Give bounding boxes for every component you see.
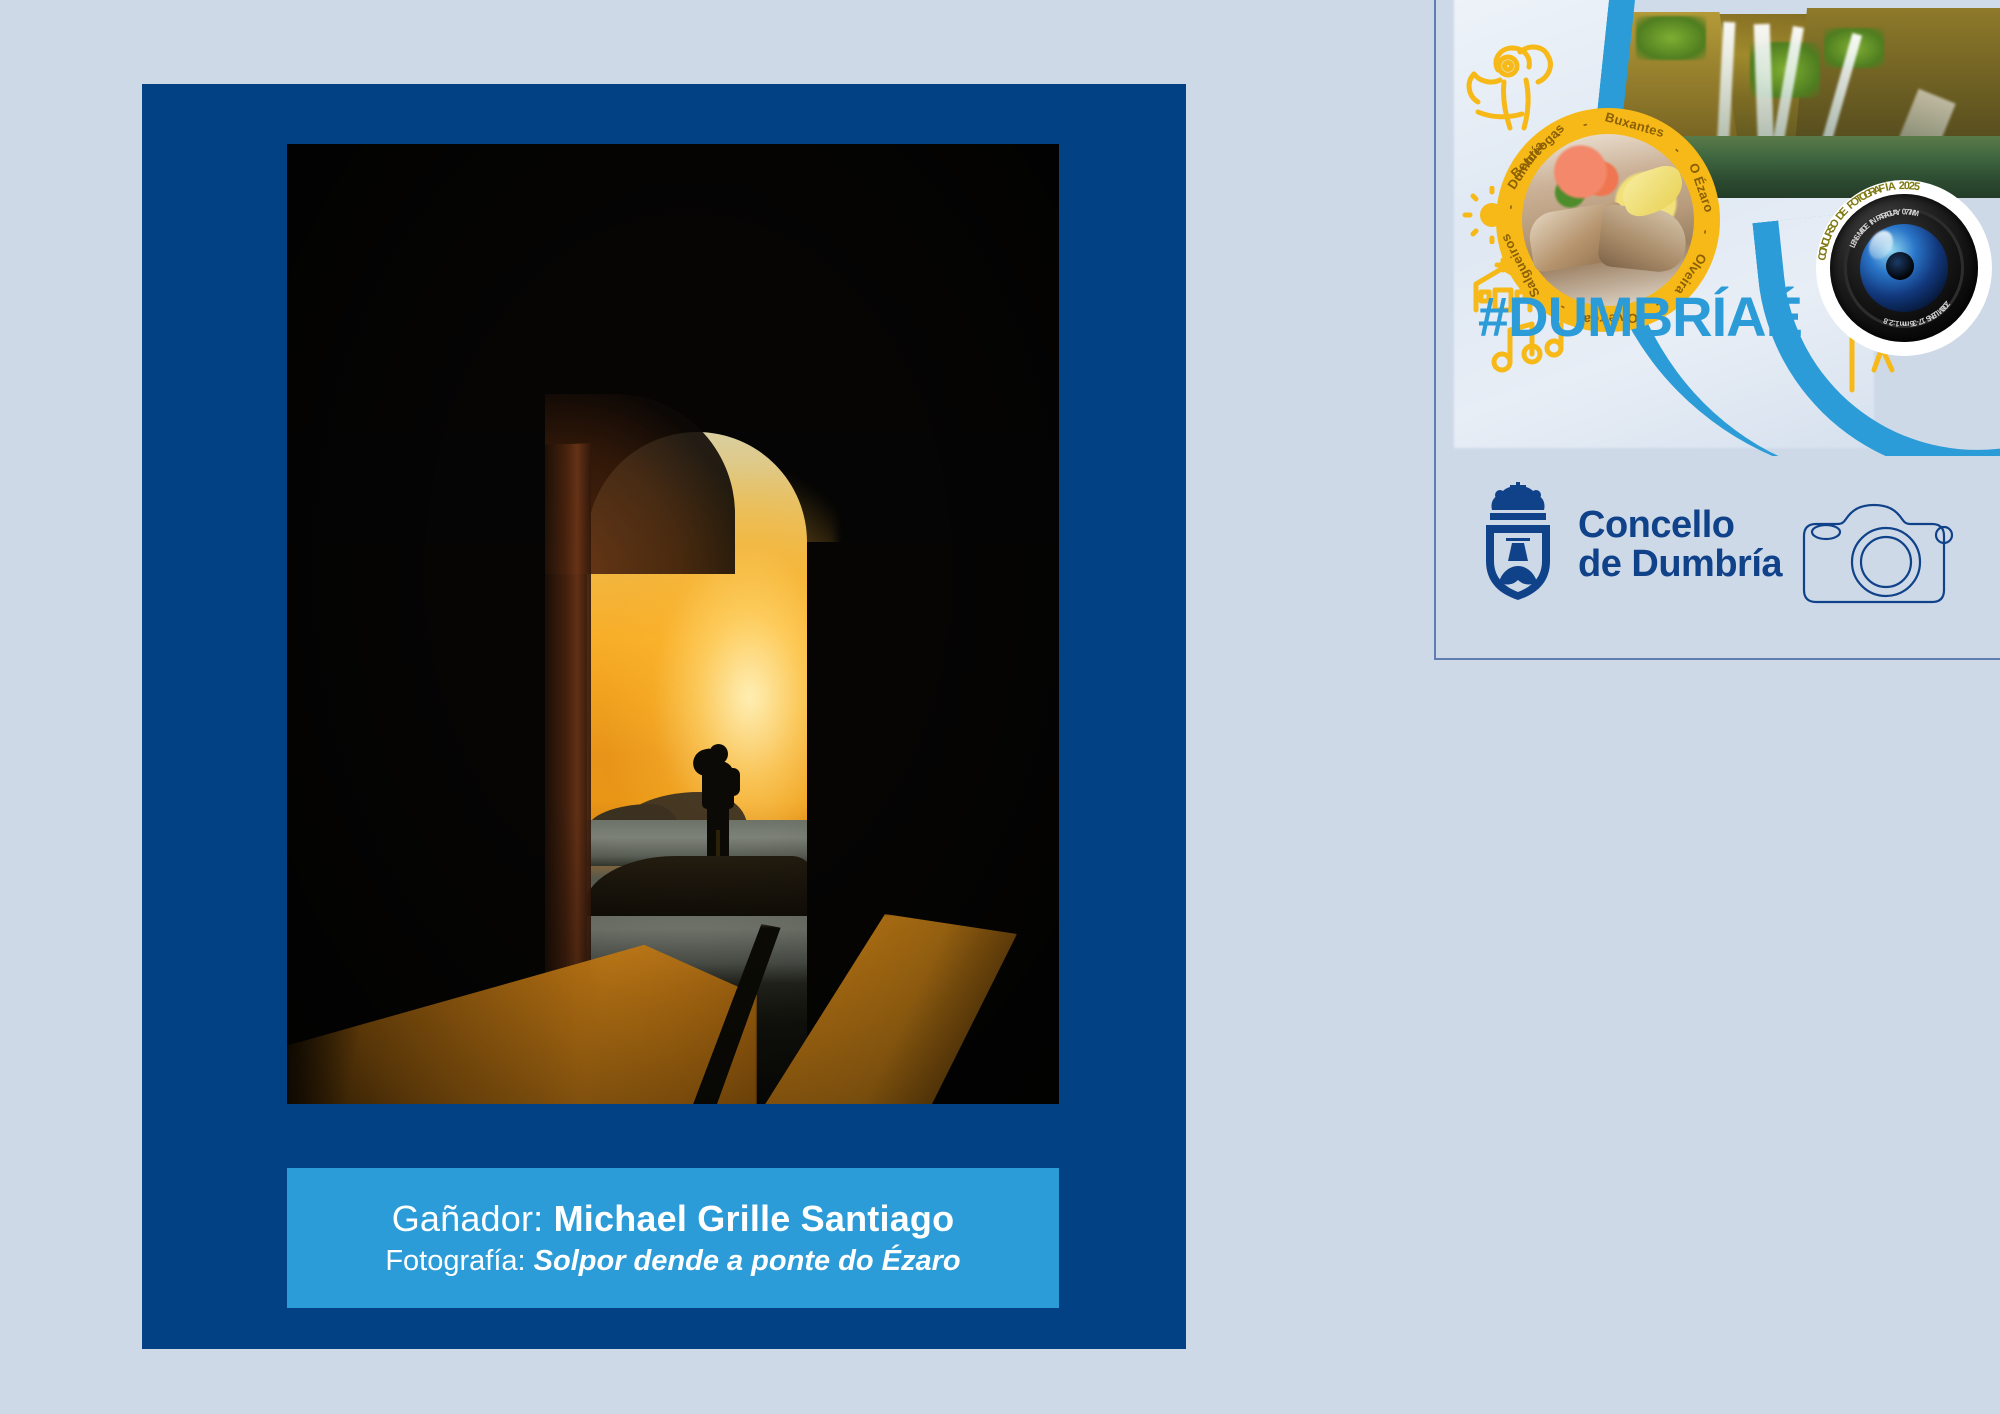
photo-title-line: Fotografía: Solpor dende a ponte do Ézar…: [385, 1245, 960, 1278]
winner-name: Michael Grille Santiago: [554, 1198, 955, 1239]
silhouette-leg-gap: [716, 830, 720, 858]
sponsor-panel: Berdeogas-Buxantes-O Ézaro-Olveira-Olvei…: [1434, 0, 2000, 660]
waterfall-vegetation-1: [1636, 16, 1706, 60]
winner-photo-card: Gañador: Michael Grille Santiago Fotogra…: [142, 84, 1186, 1349]
concello-name-line2: de Dumbría: [1578, 545, 1782, 584]
ring-word: Dumbría: [1504, 138, 1547, 192]
lens-engraving-bottom: ZOOM LENS 17-35 mm 1:2.8: [1816, 180, 1992, 356]
dumbria-poster: Berdeogas-Buxantes-O Ézaro-Olveira-Olvei…: [1436, 0, 2000, 456]
winner-line: Gañador: Michael Grille Santiago: [392, 1198, 955, 1239]
concello-logo-row: Concello de Dumbría: [1436, 456, 2000, 656]
ring-word: -: [1581, 116, 1589, 132]
winning-photograph: [287, 144, 1059, 1104]
photo-person-silhouette: [691, 744, 743, 864]
concello-name-line1: Concello: [1578, 506, 1782, 545]
photo-title: Solpor dende a ponte do Ézaro: [534, 1245, 961, 1277]
concello-wordmark: Concello de Dumbría: [1578, 506, 1782, 584]
ring-word: -: [1502, 204, 1517, 211]
photo-label: Fotografía:: [385, 1245, 525, 1277]
concello-crest-icon: [1474, 480, 1562, 600]
camera-outline-icon: [1796, 492, 1976, 612]
ring-word: Buxantes: [1603, 109, 1666, 140]
ring-word: O Ézaro: [1686, 161, 1717, 214]
photo-contest-lens-badge: CONCURSO DE FOTOGRAFÍA 2025 LENS MADE IN…: [1816, 180, 1992, 356]
winner-caption-band: Gañador: Michael Grille Santiago Fotogra…: [287, 1168, 1059, 1308]
ring-word: -: [1699, 229, 1714, 235]
silhouette-backpack: [725, 768, 740, 796]
ring-word: -: [1671, 143, 1685, 157]
photo-wall-top: [287, 144, 1059, 432]
winner-label: Gañador:: [392, 1198, 544, 1239]
dumbria-hashtag: #DUMBRÍAÉ: [1460, 284, 1820, 349]
